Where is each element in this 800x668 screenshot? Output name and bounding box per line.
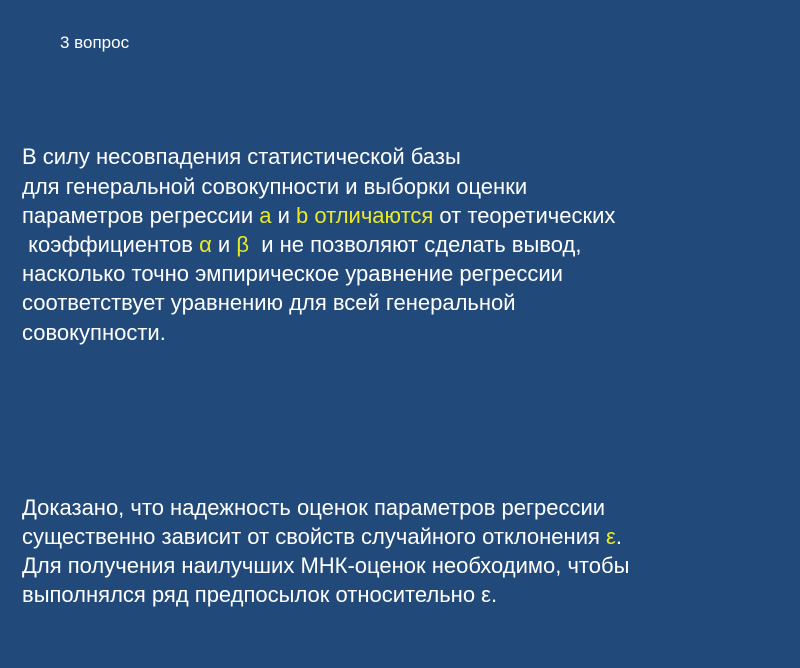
body-text-line: коэффициентов α и β и не позволяют сдела… (22, 230, 770, 259)
highlighted-term: β (236, 232, 249, 257)
body-text-run: для генеральной совокупности и выборки о… (22, 174, 527, 199)
body-text-run: выполнялся ряд предпосылок относительно … (22, 582, 497, 607)
body-text-line: для генеральной совокупности и выборки о… (22, 172, 770, 201)
body-text-line: совокупности. (22, 318, 770, 347)
body-text-run: соответствует уравнению для всей генерал… (22, 290, 516, 315)
body-paragraph-1: В силу несовпадения статистической базыд… (22, 142, 770, 346)
body-text-run: от теоретических (433, 203, 615, 228)
body-text-run: и (212, 232, 237, 257)
body-text-run: и (272, 203, 297, 228)
body-text-line: параметров регрессии a и b отличаются от… (22, 201, 770, 230)
body-text-run: коэффициентов (22, 232, 199, 257)
slide-title: 3 вопрос (60, 32, 129, 53)
highlighted-term: α (199, 232, 212, 257)
body-text-line: существенно зависит от свойств случайног… (22, 522, 770, 551)
body-text-run: Доказано, что надежность оценок параметр… (22, 495, 605, 520)
slide-body: В силу несовпадения статистической базыд… (22, 84, 770, 668)
body-text-line: В силу несовпадения статистической базы (22, 142, 770, 171)
paragraph-spacer (22, 405, 770, 434)
body-paragraph-2: Доказано, что надежность оценок параметр… (22, 493, 770, 610)
body-text-run: В силу несовпадения статистической базы (22, 144, 461, 169)
body-text-run: параметров регрессии (22, 203, 259, 228)
highlighted-term: b отличаются (296, 203, 433, 228)
highlighted-term: ε (606, 524, 616, 549)
highlighted-term: a (259, 203, 271, 228)
body-text-line: насколько точно эмпирическое уравнение р… (22, 259, 770, 288)
body-text-run: и не позволяют сделать вывод, (249, 232, 581, 257)
body-text-run: насколько точно эмпирическое уравнение р… (22, 261, 563, 286)
body-text-run: существенно зависит от свойств случайног… (22, 524, 606, 549)
body-text-line: Доказано, что надежность оценок параметр… (22, 493, 770, 522)
presentation-slide: 3 вопрос В силу несовпадения статистичес… (0, 0, 800, 600)
body-text-line: Для получения наилучших МНК-оценок необх… (22, 551, 770, 580)
body-text-run: . (616, 524, 622, 549)
body-text-run: Для получения наилучших МНК-оценок необх… (22, 553, 629, 578)
body-text-line: соответствует уравнению для всей генерал… (22, 288, 770, 317)
body-text-line: выполнялся ряд предпосылок относительно … (22, 580, 770, 609)
body-text-run: совокупности. (22, 320, 166, 345)
